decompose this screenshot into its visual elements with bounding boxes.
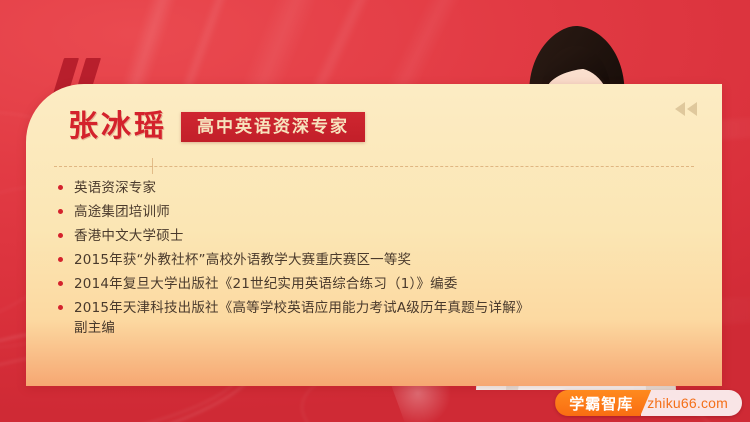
instructor-info-card: 张冰瑶 高中英语资深专家 英语资深专家 高途集团培训师 香港中文大学硕士 201… (26, 84, 722, 386)
credentials-list: 英语资深专家 高途集团培训师 香港中文大学硕士 2015年获“外教社杯”高校外语… (56, 178, 526, 342)
watermark-badge[interactable]: 学霸智库 zhiku66.com (555, 390, 742, 416)
list-item: 2015年获“外教社杯”高校外语教学大赛重庆赛区一等奖 (56, 250, 526, 270)
list-item: 2015年天津科技出版社《高等学校英语应用能力考试A级历年真题与详解》副主编 (56, 298, 526, 338)
list-item: 香港中文大学硕士 (56, 226, 526, 246)
divider-tick (152, 158, 153, 174)
instructor-title-badge: 高中英语资深专家 (181, 112, 365, 142)
list-item: 2014年复旦大学出版社《21世纪实用英语综合练习（1）》编委 (56, 274, 526, 294)
slide-canvas: 张冰瑶 高中英语资深专家 英语资深专家 高途集团培训师 香港中文大学硕士 201… (0, 0, 750, 422)
list-item: 高途集团培训师 (56, 202, 526, 222)
watermark-brand: 学霸智库 (555, 390, 651, 416)
list-item: 英语资深专家 (56, 178, 526, 198)
instructor-name: 张冰瑶 (68, 112, 167, 142)
title-row: 张冰瑶 高中英语资深专家 (68, 112, 365, 142)
watermark-url: zhiku66.com (641, 390, 742, 416)
divider (54, 166, 694, 167)
rewind-icon[interactable] (674, 100, 698, 118)
